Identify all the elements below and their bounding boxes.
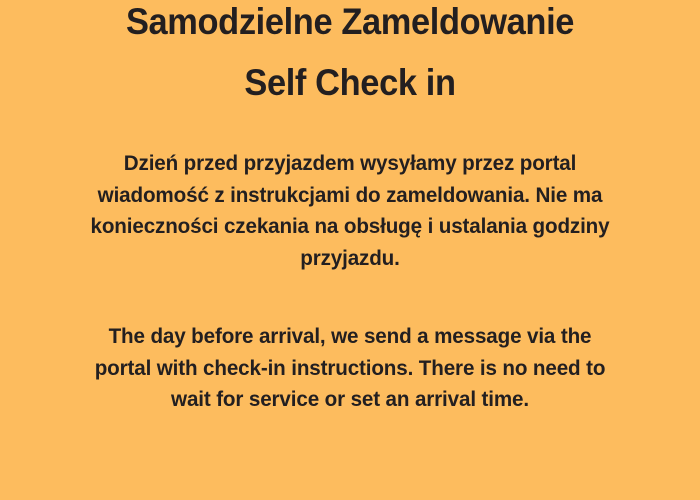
poster-heading-block: Samodzielne Zameldowanie Self Check in — [0, 0, 700, 108]
polish-paragraph-line: przyjazdu. — [62, 243, 638, 275]
self-check-in-info-poster: Samodzielne Zameldowanie Self Check in D… — [0, 0, 700, 500]
polish-instructions-paragraph: Dzień przed przyjazdem wysyłamy przez po… — [50, 148, 650, 274]
english-paragraph-line: wait for service or set an arrival time. — [62, 384, 638, 416]
polish-paragraph-line: Dzień przed przyjazdem wysyłamy przez po… — [62, 148, 638, 180]
page-title-english: Self Check in — [25, 57, 676, 108]
polish-paragraph-line: wiadomość z instrukcjami do zameldowania… — [62, 180, 638, 212]
english-paragraph-line: The day before arrival, we send a messag… — [62, 321, 638, 353]
english-instructions-paragraph: The day before arrival, we send a messag… — [50, 321, 650, 416]
page-title-polish: Samodzielne Zameldowanie — [25, 0, 676, 47]
english-paragraph-line: portal with check-in instructions. There… — [62, 353, 638, 385]
polish-paragraph-line: konieczności czekania na obsługę i ustal… — [62, 211, 638, 243]
